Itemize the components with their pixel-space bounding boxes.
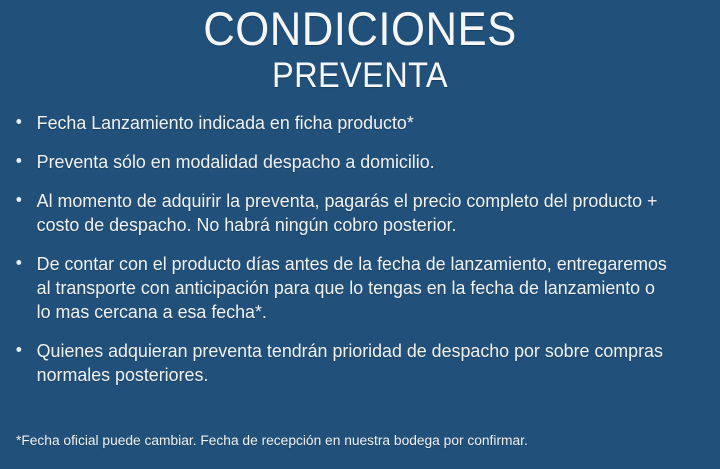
footnote-text: *Fecha oficial puede cambiar. Fecha de r… [16,433,683,451]
bullet-dot-icon [16,347,21,352]
page-subtitle: PREVENTA [25,56,695,95]
bullet-dot-icon [16,260,21,265]
list-item: Preventa sólo en modalidad despacho a do… [0,150,670,174]
list-item: Fecha Lanzamiento indicada en ficha prod… [0,111,670,135]
list-item-text: De contar con el producto días antes de … [37,252,670,324]
list-item-text: Quienes adquieran preventa tendrán prior… [37,339,670,387]
conditions-bullet-list: Fecha Lanzamiento indicada en ficha prod… [0,111,720,387]
title-block: CONDICIONES PREVENTA [0,0,720,95]
page-title: CONDICIONES [25,4,695,54]
list-item-text: Al momento de adquirir la preventa, paga… [37,189,670,237]
list-item: Al momento de adquirir la preventa, paga… [0,189,670,237]
bullet-dot-icon [16,197,21,202]
list-item-text: Fecha Lanzamiento indicada en ficha prod… [37,111,670,135]
bullet-dot-icon [16,158,21,163]
list-item: Quienes adquieran preventa tendrán prior… [0,339,670,387]
slide-canvas: CONDICIONES PREVENTA Fecha Lanzamiento i… [0,0,720,469]
bullet-dot-icon [16,119,21,124]
list-item: De contar con el producto días antes de … [0,252,670,324]
list-item-text: Preventa sólo en modalidad despacho a do… [37,150,670,174]
